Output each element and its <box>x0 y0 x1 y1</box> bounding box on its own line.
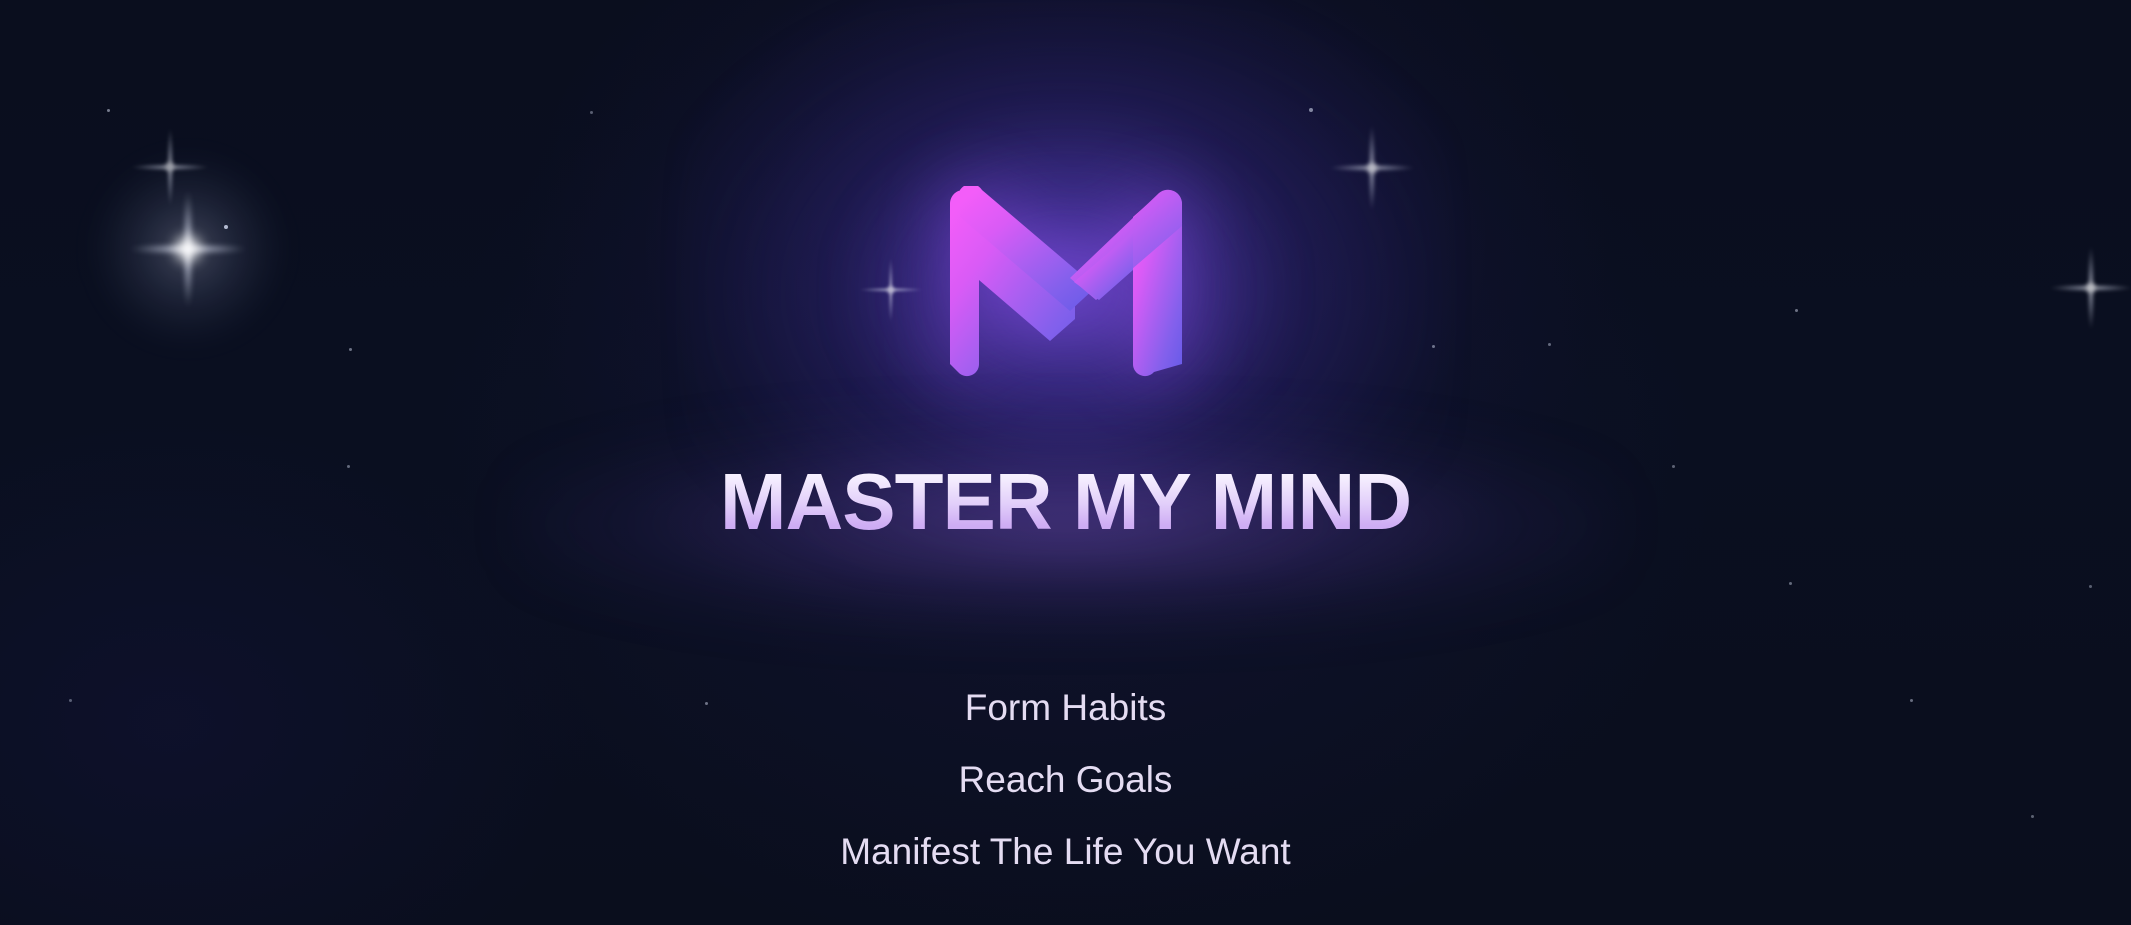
splash-screen: MASTER MY MIND Form Habits Reach Goals M… <box>0 0 2131 925</box>
tagline-item: Manifest The Life You Want <box>0 816 2131 888</box>
logo-m-shape <box>949 186 1181 376</box>
headline-block: MASTER MY MIND <box>0 462 2131 542</box>
tagline-list: Form Habits Reach Goals Manifest The Lif… <box>0 672 2131 888</box>
app-logo <box>946 186 1186 382</box>
tagline-item: Form Habits <box>0 672 2131 744</box>
tagline-item: Reach Goals <box>0 744 2131 816</box>
page-title: MASTER MY MIND <box>0 462 2131 542</box>
